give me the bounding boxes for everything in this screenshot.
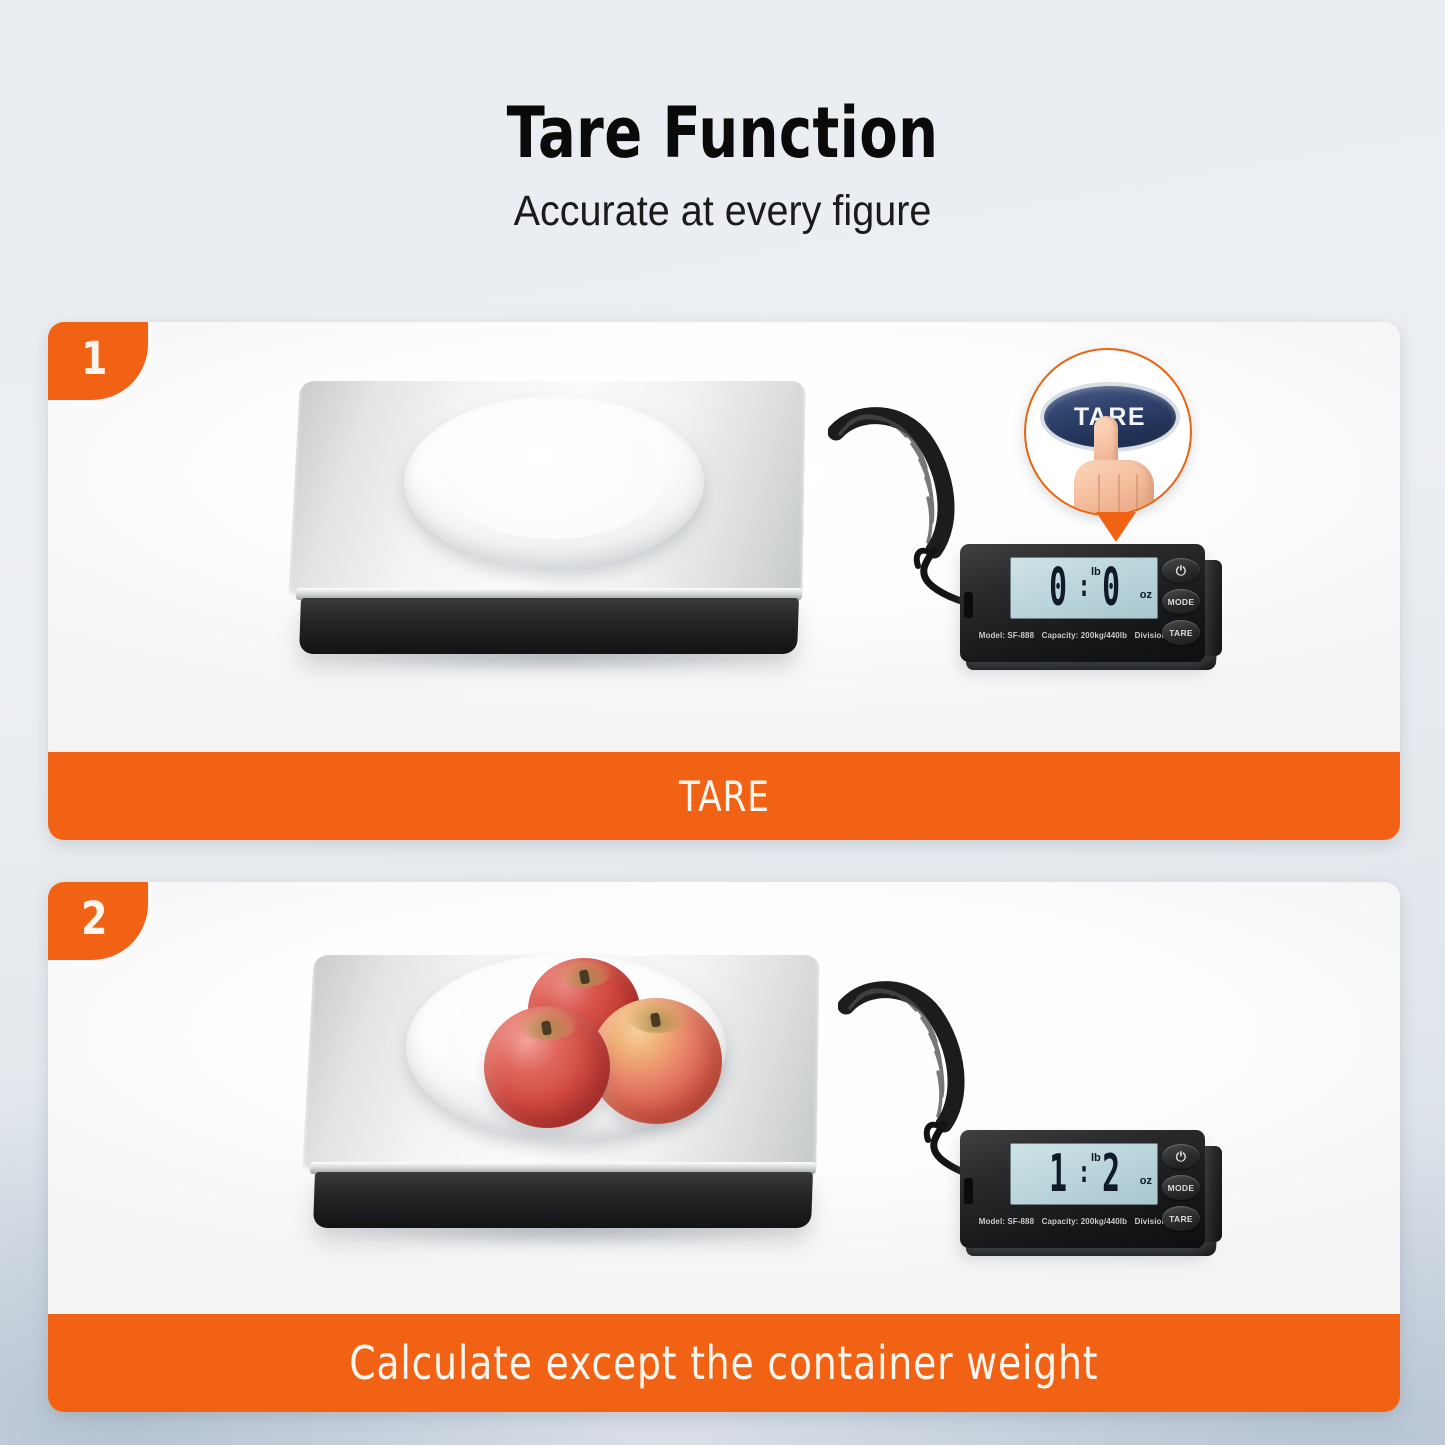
apple-stem <box>578 970 589 985</box>
tare-callout-circle: TARE <box>1024 348 1192 516</box>
callout-pointer-icon <box>1096 512 1136 542</box>
display-button-column-2: ⏻ MODE TARE <box>1162 1144 1202 1237</box>
white-plate-with-apples <box>406 954 726 1140</box>
lcd-separator: : <box>1078 572 1091 602</box>
lcd-unit-oz: oz <box>1140 1175 1152 1187</box>
mode-button-label: MODE <box>1168 597 1195 607</box>
scale-platform-1 <box>284 370 844 660</box>
step-2-scene: 1 : 2 lb oz Model: SF-888Capacity: 200kg… <box>48 882 1400 1314</box>
tare-button-label: TARE <box>1169 1214 1193 1224</box>
knuckle-line <box>1136 474 1138 516</box>
step-caption-bar-1: TARE <box>48 752 1400 840</box>
lcd-screen-2: 1 : 2 lb oz <box>1010 1143 1158 1205</box>
page-subtitle: Accurate at every figure <box>58 190 1387 233</box>
step-caption-text-1: TARE <box>679 772 770 821</box>
apple-right <box>590 998 722 1124</box>
mode-button-label: MODE <box>1168 1183 1195 1193</box>
lcd-value-oz: 2 <box>1102 1148 1119 1199</box>
tare-button[interactable]: TARE <box>1162 620 1200 645</box>
spec-capacity: Capacity: 200kg/440lb <box>1042 1216 1127 1226</box>
page-header: Tare Function Accurate at every figure <box>0 98 1445 233</box>
mode-button[interactable]: MODE <box>1162 589 1200 614</box>
scale-top-edge <box>310 1162 816 1174</box>
scale-black-base <box>313 1172 813 1228</box>
step-number-1: 1 <box>81 336 107 381</box>
apple-dimple <box>559 960 611 987</box>
step-1-scene: 0 : 0 lb oz Model: SF-888Capacity: 200kg… <box>48 322 1400 752</box>
display-housing: 1 : 2 lb oz Model: SF-888Capacity: 200kg… <box>960 1130 1205 1248</box>
spec-model: Model: SF-888 <box>979 1216 1034 1226</box>
step-caption-bar-2: Calculate except the container weight <box>48 1314 1400 1412</box>
lcd-value-lb: 0 <box>1049 562 1066 613</box>
lcd-unit-oz: oz <box>1140 589 1152 601</box>
apple-stem <box>650 1012 661 1027</box>
tare-button-label: TARE <box>1169 628 1193 638</box>
tare-button[interactable]: TARE <box>1162 1206 1200 1231</box>
power-icon: ⏻ <box>1176 1150 1187 1163</box>
plate-well <box>443 415 665 539</box>
scale-black-base <box>299 598 799 654</box>
step-caption-text-2: Calculate except the container weight <box>349 1336 1098 1390</box>
scale-drop-shadow <box>306 646 806 672</box>
step-number-2: 2 <box>81 896 107 941</box>
step-card-2: 1 : 2 lb oz Model: SF-888Capacity: 200kg… <box>48 882 1400 1412</box>
pressing-hand-icon <box>1072 416 1156 516</box>
scale-drop-shadow <box>320 1220 820 1246</box>
apple-stem <box>541 1020 552 1035</box>
lcd-separator: : <box>1078 1158 1091 1188</box>
display-button-column-1: ⏻ MODE TARE <box>1162 558 1202 651</box>
apples-group <box>406 954 726 1140</box>
scale-top-edge <box>296 588 802 600</box>
white-plate-empty <box>404 396 704 568</box>
scale-display-unit-2: 1 : 2 lb oz Model: SF-888Capacity: 200kg… <box>960 1130 1250 1260</box>
lcd-screen-1: 0 : 0 lb oz <box>1010 557 1158 619</box>
display-spec-label-1: Model: SF-888Capacity: 200kg/440lbDivisi… <box>979 630 1190 640</box>
lcd-value-oz: 0 <box>1102 562 1119 613</box>
lcd-value-lb: 1 <box>1049 1148 1066 1199</box>
apple-left <box>484 1006 610 1128</box>
power-button[interactable]: ⏻ <box>1162 1144 1200 1169</box>
page-title: Tare Function <box>145 98 1301 168</box>
mode-button[interactable]: MODE <box>1162 1175 1200 1200</box>
hand-knuckles <box>1074 460 1154 516</box>
lcd-unit-lb: lb <box>1091 1152 1101 1164</box>
knuckle-line <box>1098 474 1100 516</box>
scale-platform-2 <box>298 944 858 1234</box>
tare-callout: TARE <box>1014 348 1218 566</box>
display-spec-label-2: Model: SF-888Capacity: 200kg/440lbDivisi… <box>979 1216 1190 1226</box>
knuckle-line <box>1118 474 1120 516</box>
lcd-unit-lb: lb <box>1091 566 1101 578</box>
spec-model: Model: SF-888 <box>979 630 1034 640</box>
step-card-1: 0 : 0 lb oz Model: SF-888Capacity: 200kg… <box>48 322 1400 840</box>
index-finger <box>1094 416 1118 478</box>
cable-port <box>964 592 973 618</box>
apple-dimple <box>627 1001 688 1034</box>
spec-capacity: Capacity: 200kg/440lb <box>1042 630 1127 640</box>
cable-port <box>964 1178 973 1204</box>
apple-dimple <box>519 1008 577 1040</box>
